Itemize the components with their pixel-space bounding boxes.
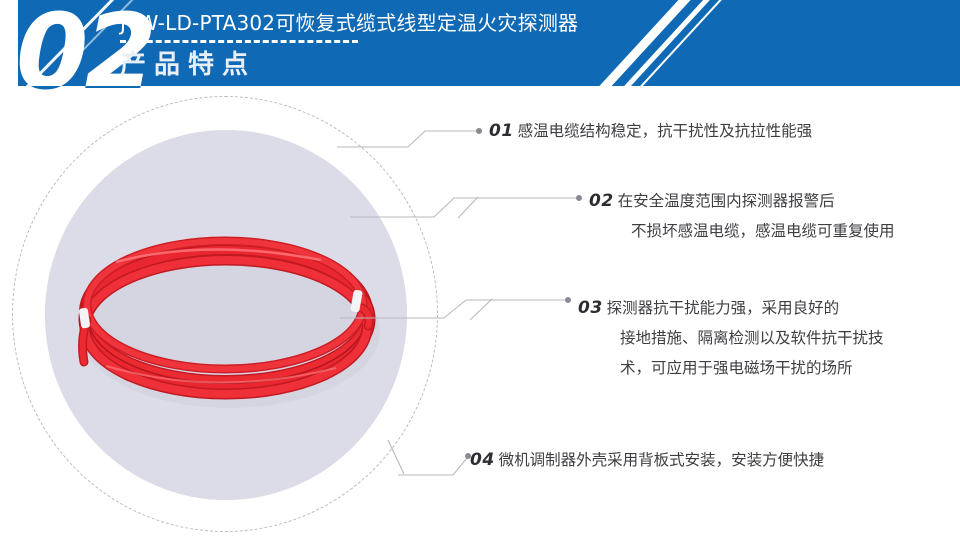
feature-02-line-2: 不损坏感温电缆，感温电缆可重复使用 [589,216,895,246]
connector-dot-03 [565,297,571,303]
feature-02-text-1: 在安全温度范围内探测器报警后 [618,192,835,210]
heat-sensing-cable-image [45,130,407,500]
feature-index-01: 01 [489,121,514,141]
connector-dot-01 [476,128,482,134]
feature-item-02: 02在安全温度范围内探测器报警后 不损坏感温电缆，感温电缆可重复使用 [589,186,895,246]
feature-item-04: 04微机调制器外壳采用背板式安装，安装方便快捷 [470,445,824,475]
feature-04-line-1: 04微机调制器外壳采用背板式安装，安装方便快捷 [470,445,824,475]
feature-03-line-3: 术，可应用于强电磁场干扰的场所 [578,353,884,383]
feature-index-02: 02 [589,191,614,211]
feature-03-line-1: 03探测器抗干扰能力强，采用良好的 [578,293,884,323]
feature-03-text-1: 探测器抗干扰能力强，采用良好的 [607,299,840,317]
feature-index-03: 03 [578,298,603,318]
product-figure [12,96,442,536]
feature-index-04: 04 [470,450,495,470]
header-title-block: JTW-LD-PTA302可恢复式缆式线型定温火灾探测器 产品特点 [120,10,640,80]
feature-04-text-1: 微机调制器外壳采用背板式安装，安装方便快捷 [499,451,825,469]
product-model-title: JTW-LD-PTA302可恢复式缆式线型定温火灾探测器 [120,10,640,36]
feature-01-line-1: 01感温电缆结构稳定，抗干扰性及抗拉性能强 [489,116,812,146]
feature-03-line-2: 接地措施、隔离检测以及软件抗干扰技 [578,323,884,353]
section-heading: 产品特点 [120,50,640,80]
feature-01-text-1: 感温电缆结构稳定，抗干扰性及抗拉性能强 [518,122,813,140]
feature-item-03: 03探测器抗干扰能力强，采用良好的 接地措施、隔离检测以及软件抗干扰技 术，可应… [578,293,884,383]
feature-02-line-1: 02在安全温度范围内探测器报警后 [589,186,895,216]
feature-item-01: 01感温电缆结构稳定，抗干扰性及抗拉性能强 [489,116,812,146]
header-dashed-divider [120,40,358,43]
connector-dot-02 [576,195,582,201]
